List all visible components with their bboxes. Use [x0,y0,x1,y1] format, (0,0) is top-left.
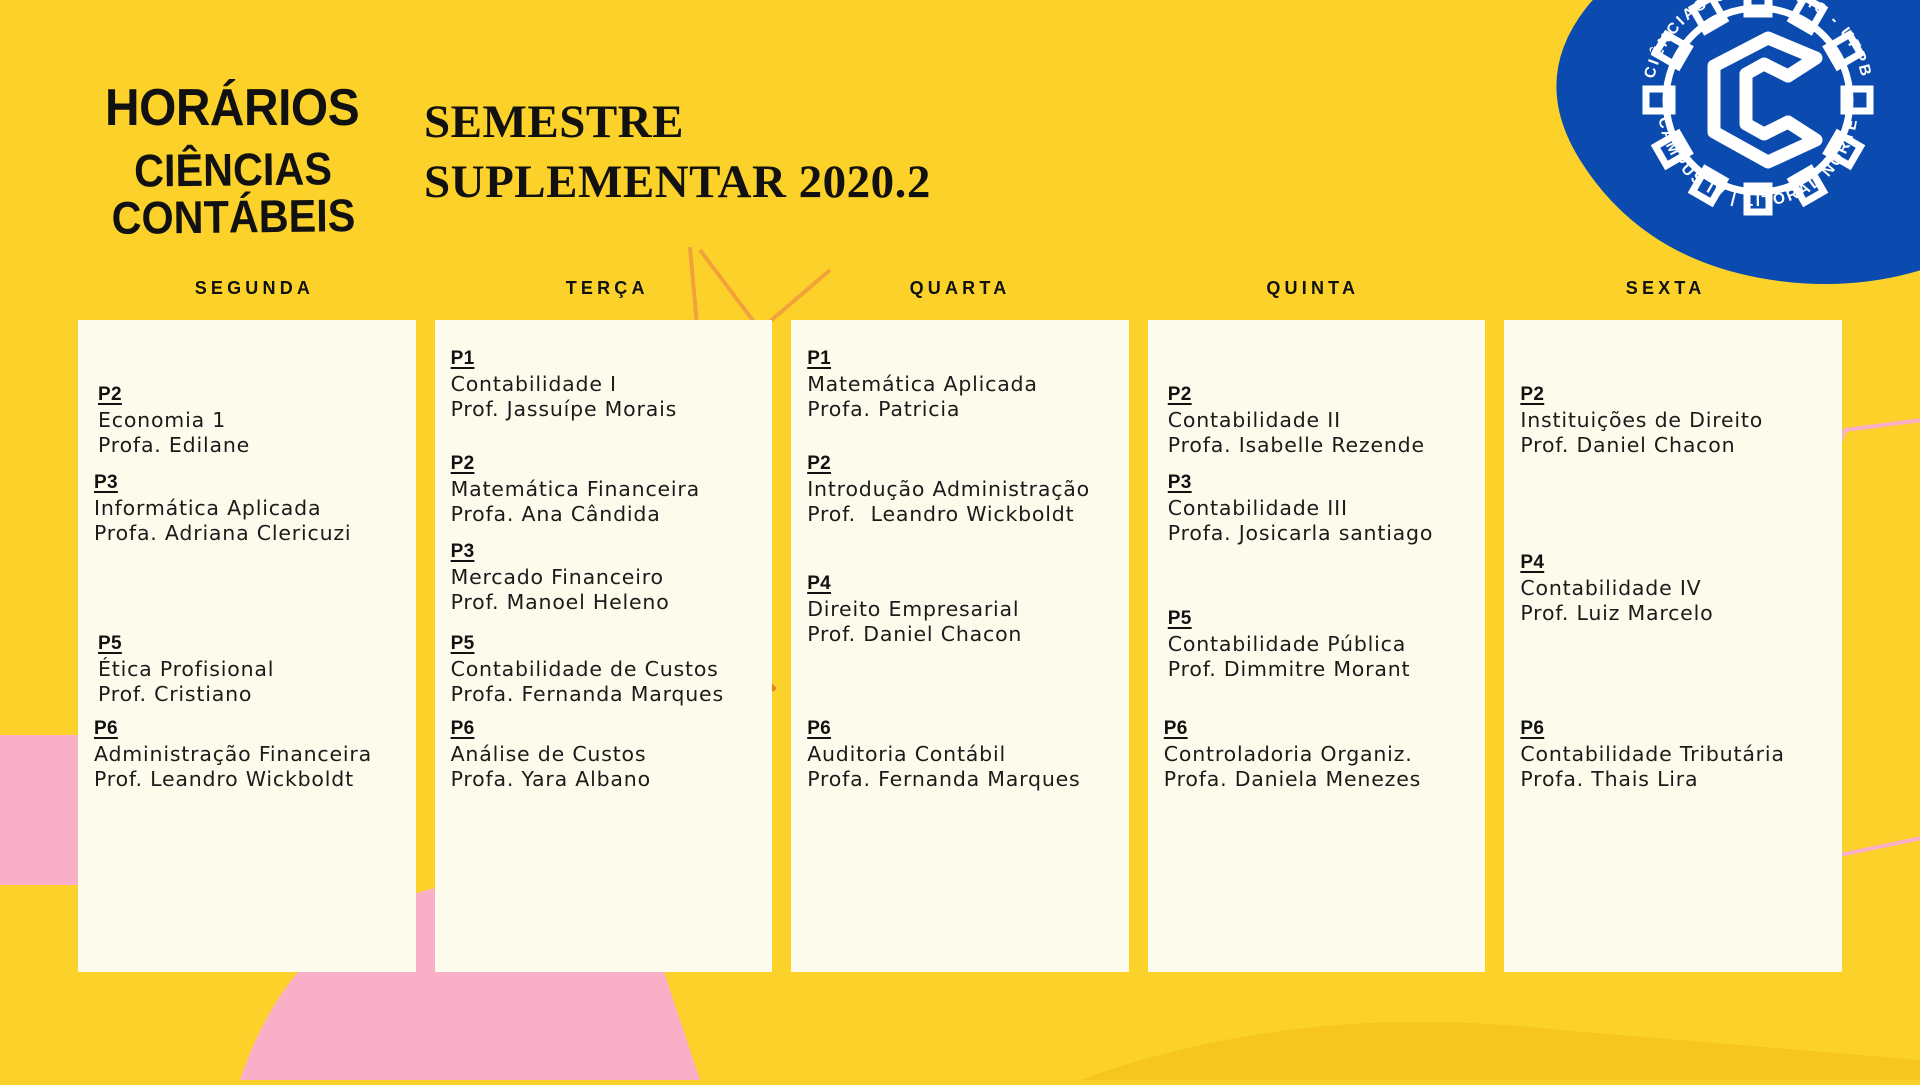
period-label: P5 [1168,608,1476,630]
period-label: P4 [807,573,1119,595]
yellow-band-bottom [1080,1022,1920,1080]
teacher-name: Prof. Daniel Chacon [1520,433,1832,458]
period-label: P4 [1520,552,1832,574]
subject-name: Administração Financeira [94,742,406,767]
subject-name: Introdução Administração [807,477,1119,502]
period-label: P2 [1168,384,1476,406]
subject-name: Informática Aplicada [94,496,406,521]
class-slot: P1Contabilidade IProf. Jassuípe Morais [451,348,763,423]
subject-name: Contabilidade Pública [1168,632,1476,657]
day-column-terca: P1Contabilidade IProf. Jassuípe MoraisP2… [435,320,773,972]
subject-name: Direito Empresarial [807,597,1119,622]
day-header-quinta: QUINTA [1136,278,1489,299]
teacher-name: Prof. Dimmitre Morant [1168,657,1476,682]
period-label: P5 [98,633,406,655]
period-label: P2 [98,384,406,406]
period-label: P6 [1520,718,1832,740]
day-header-terca: TERÇA [431,278,784,299]
semester-line-2: SUPLEMENTAR 2020.2 [424,152,931,212]
teacher-name: Profa. Edilane [98,433,406,458]
period-label: P6 [807,718,1119,740]
subject-name: Contabilidade II [1168,408,1476,433]
class-slot: P6Administração FinanceiraProf. Leandro … [94,718,406,793]
semester-title: SEMESTRE SUPLEMENTAR 2020.2 [424,92,931,212]
class-slot: P3Mercado FinanceiroProf. Manoel Heleno [451,541,763,616]
class-slot: P2Matemática FinanceiraProfa. Ana Cândid… [451,453,763,528]
teacher-name: Profa. Adriana Clericuzi [94,521,406,546]
class-slot: P6Auditoria ContábilProfa. Fernanda Marq… [807,718,1119,793]
page-title: HORÁRIOS CIÊNCIAS CONTÁBEIS [105,82,390,242]
period-label: P2 [1520,384,1832,406]
subject-name: Economia 1 [98,408,406,433]
period-label: P3 [94,472,406,494]
logo-badge: CIÊNCIAS CONTÁBEIS - UFPB CAMPUS IV | LI… [1390,0,1920,290]
subject-name: Auditoria Contábil [807,742,1119,767]
day-column-sexta: P2Instituições de DireitoProf. Daniel Ch… [1504,320,1842,972]
day-header-quarta: QUARTA [784,278,1137,299]
subject-name: Mercado Financeiro [451,565,763,590]
teacher-name: Prof. Leandro Wickboldt [94,767,406,792]
teacher-name: Profa. Yara Albano [451,767,763,792]
subject-name: Contabilidade de Custos [451,657,763,682]
teacher-name: Prof. Cristiano [98,682,406,707]
period-label: P1 [451,348,763,370]
teacher-name: Prof. Daniel Chacon [807,622,1119,647]
teacher-name: Profa. Patricia [807,397,1119,422]
subject-name: Matemática Aplicada [807,372,1119,397]
class-slot: P6Controladoria Organiz.Profa. Daniela M… [1164,718,1476,793]
teacher-name: Prof. Jassuípe Morais [451,397,763,422]
period-label: P2 [807,453,1119,475]
teacher-name: Profa. Daniela Menezes [1164,767,1476,792]
subject-name: Análise de Custos [451,742,763,767]
title-horarios: HORÁRIOS [105,82,367,134]
logo-svg: CIÊNCIAS CONTÁBEIS - UFPB CAMPUS IV | LI… [1390,0,1920,290]
subject-name: Ética Profisional [98,657,406,682]
period-label: P1 [807,348,1119,370]
day-column-segunda: P2Economia 1Profa. EdilaneP3Informática … [78,320,416,972]
class-slot: P5Contabilidade PúblicaProf. Dimmitre Mo… [1164,608,1476,683]
class-slot: P4Direito EmpresarialProf. Daniel Chacon [807,573,1119,648]
subject-name: Matemática Financeira [451,477,763,502]
period-label: P3 [451,541,763,563]
teacher-name: Prof. Manoel Heleno [451,590,763,615]
teacher-name: Profa. Isabelle Rezende [1168,433,1476,458]
subject-name: Contabilidade IV [1520,576,1832,601]
schedule-grid: P2Economia 1Profa. EdilaneP3Informática … [0,320,1920,972]
class-slot: P1Matemática AplicadaProfa. Patricia [807,348,1119,423]
day-column-quarta: P1Matemática AplicadaProfa. PatriciaP2In… [791,320,1129,972]
class-slot: P5Contabilidade de CustosProfa. Fernanda… [451,633,763,708]
teacher-name: Prof. Leandro Wickboldt [807,502,1119,527]
title-contabeis: CONTÁBEIS [105,192,362,242]
period-label: P6 [451,718,763,740]
class-slot: P2Contabilidade IIProfa. Isabelle Rezend… [1164,384,1476,459]
class-slot: P2Economia 1Profa. Edilane [94,384,406,459]
period-label: P6 [1164,718,1476,740]
semester-line-1: SEMESTRE [424,92,931,152]
class-slot: P3Informática AplicadaProfa. Adriana Cle… [94,472,406,547]
teacher-name: Profa. Josicarla santiago [1168,521,1476,546]
title-ciencias-contabeis: CIÊNCIAS CONTÁBEIS [105,145,362,242]
subject-name: Contabilidade I [451,372,763,397]
class-slot: P2Introdução AdministraçãoProf. Leandro … [807,453,1119,528]
period-label: P2 [451,453,763,475]
day-header-row: SEGUNDA TERÇA QUARTA QUINTA SEXTA [0,278,1920,299]
class-slot: P6Contabilidade TributáriaProfa. Thais L… [1520,718,1832,793]
class-slot: P3Contabilidade IIIProfa. Josicarla sant… [1164,472,1476,547]
class-slot: P5Ética ProfisionalProf. Cristiano [94,633,406,708]
title-ciencias: CIÊNCIAS [105,145,362,195]
subject-name: Instituições de Direito [1520,408,1832,433]
teacher-name: Profa. Ana Cândida [451,502,763,527]
period-label: P6 [94,718,406,740]
teacher-name: Profa. Fernanda Marques [451,682,763,707]
class-slot: P2Instituições de DireitoProf. Daniel Ch… [1520,384,1832,459]
day-column-quinta: P2Contabilidade IIProfa. Isabelle Rezend… [1148,320,1486,972]
day-header-segunda: SEGUNDA [78,278,431,299]
period-label: P5 [451,633,763,655]
day-header-sexta: SEXTA [1489,278,1842,299]
class-slot: P4Contabilidade IVProf. Luiz Marcelo [1520,552,1832,627]
teacher-name: Profa. Fernanda Marques [807,767,1119,792]
class-slot: P6Análise de CustosProfa. Yara Albano [451,718,763,793]
subject-name: Contabilidade III [1168,496,1476,521]
teacher-name: Prof. Luiz Marcelo [1520,601,1832,626]
subject-name: Controladoria Organiz. [1164,742,1476,767]
subject-name: Contabilidade Tributária [1520,742,1832,767]
period-label: P3 [1168,472,1476,494]
teacher-name: Profa. Thais Lira [1520,767,1832,792]
